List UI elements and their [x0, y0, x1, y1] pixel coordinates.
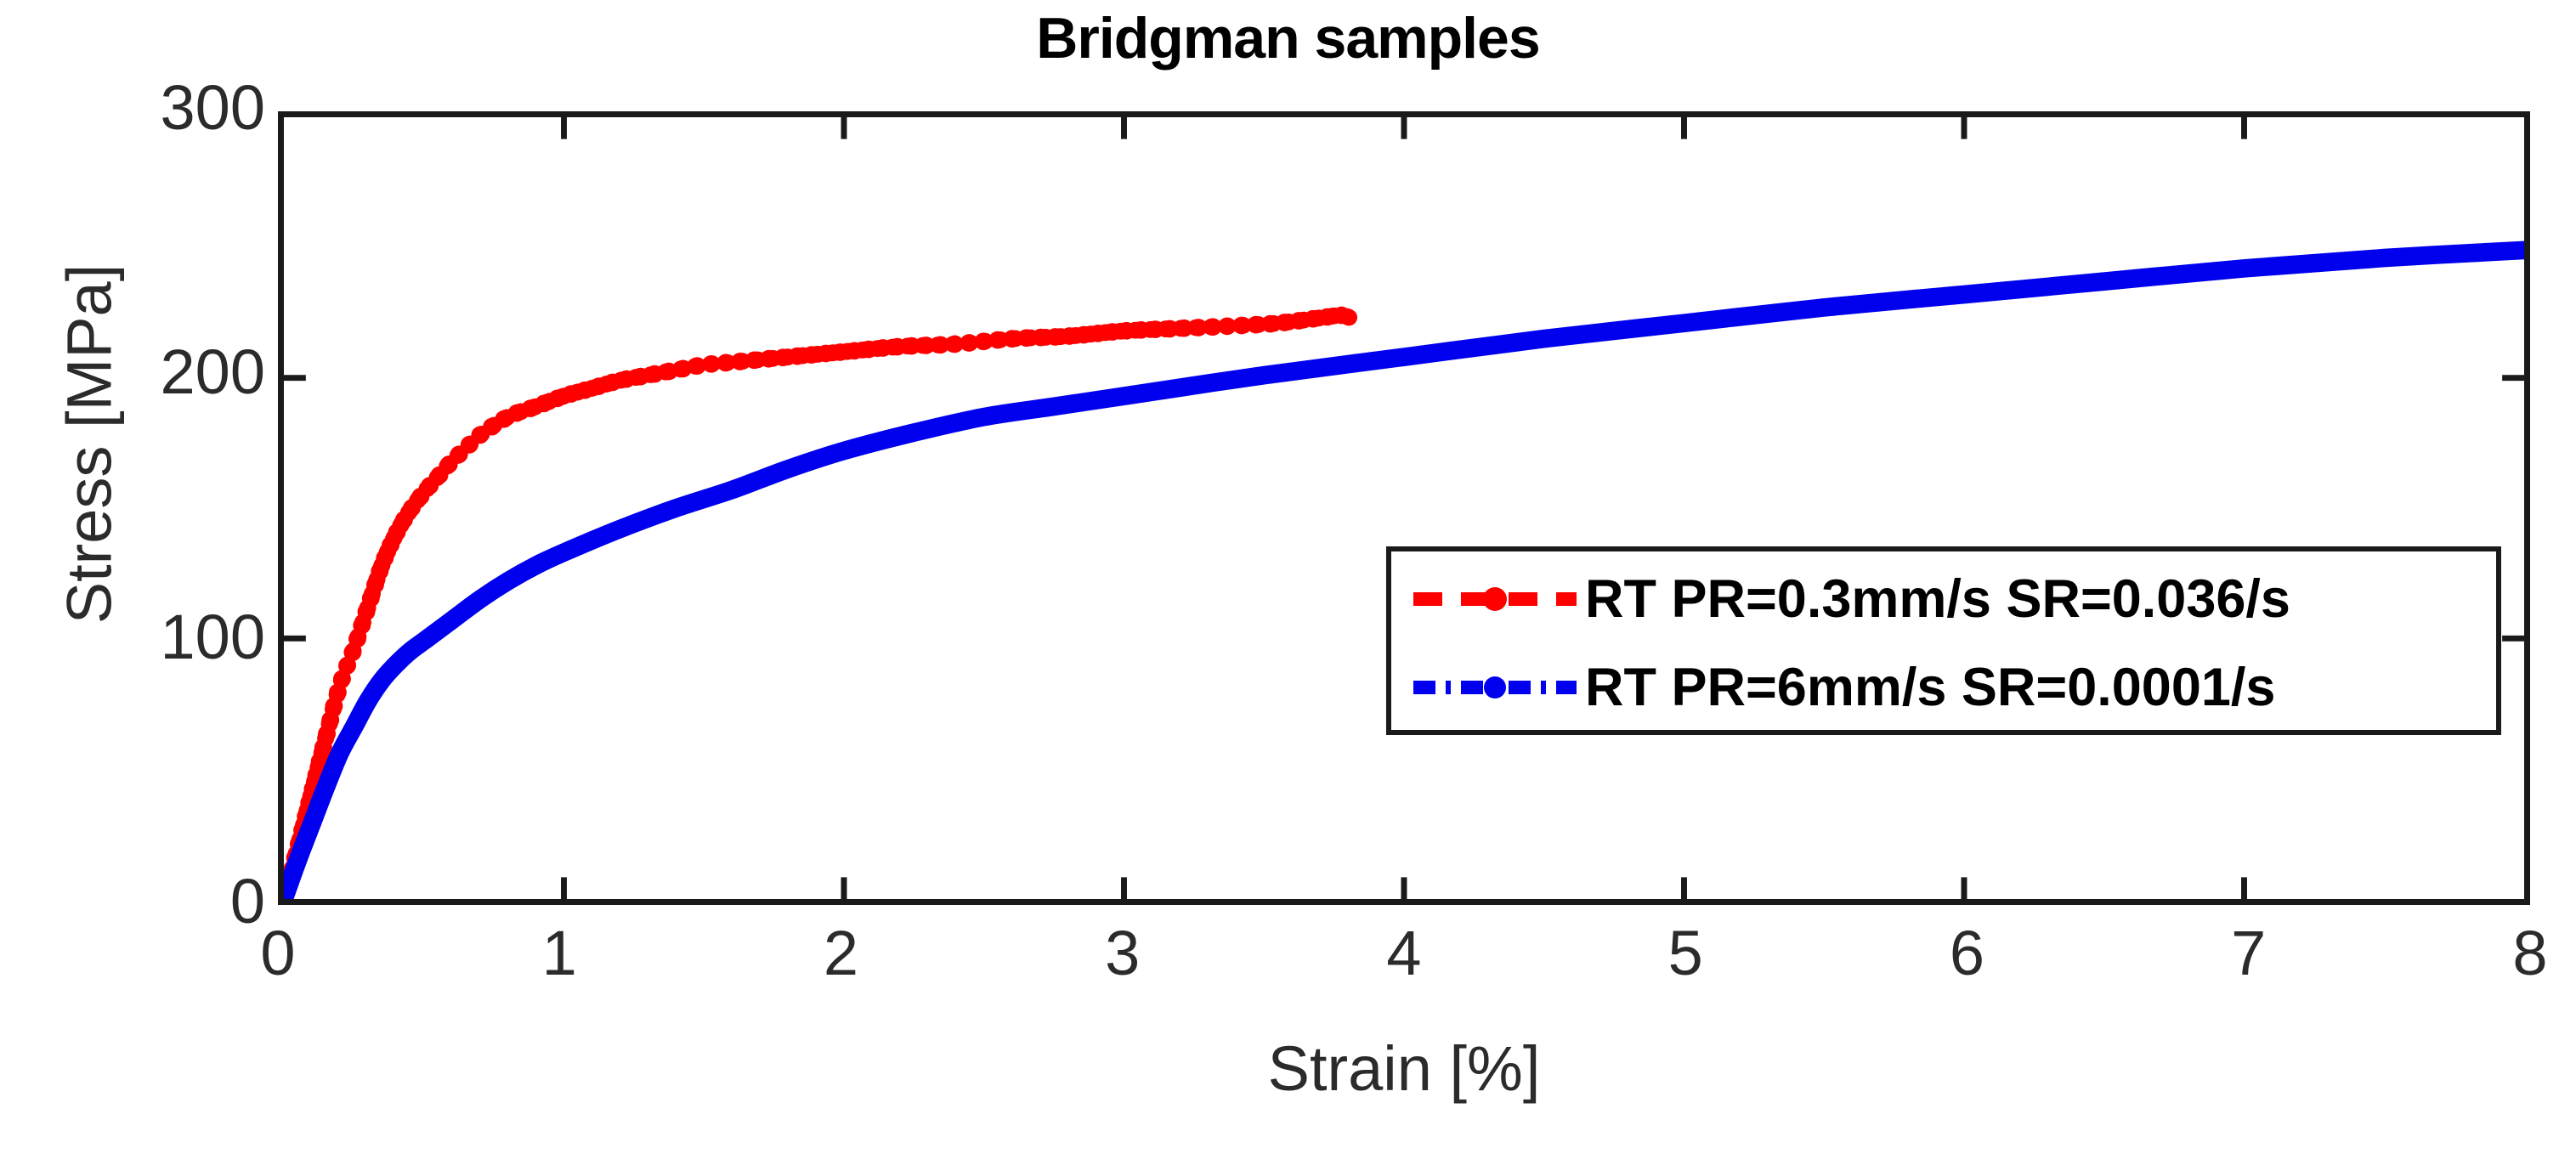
chart-title: Bridgman samples	[0, 5, 2576, 71]
y-tick-label-200: 200	[10, 341, 265, 404]
legend-label-1: RT PR=6mm/s SR=0.0001/s	[1585, 661, 2275, 715]
x-axis-tick-labels: 012345678	[0, 922, 2576, 1015]
x-tick-label-7: 7	[2181, 922, 2317, 985]
x-axis-title: Strain [%]	[278, 1032, 2530, 1105]
x-tick-label-5: 5	[1617, 922, 1753, 985]
legend-entry-1[interactable]: RT PR=6mm/s SR=0.0001/s	[1391, 647, 2496, 728]
series-line-0	[284, 315, 1354, 899]
x-tick-label-8: 8	[2462, 922, 2576, 985]
plot-canvas	[284, 117, 2524, 899]
x-tick-label-2: 2	[773, 922, 909, 985]
plot-area	[278, 111, 2530, 905]
legend-entry-0[interactable]: RT PR=0.3mm/s SR=0.036/s	[1391, 558, 2496, 640]
y-tick-label-100: 100	[10, 606, 265, 669]
x-tick-label-4: 4	[1336, 922, 1472, 985]
y-tick-label-300: 300	[10, 76, 265, 139]
series-marker	[1333, 307, 1350, 325]
x-tick-label-0: 0	[210, 922, 346, 985]
x-tick-label-6: 6	[1899, 922, 2035, 985]
x-tick-label-1: 1	[491, 922, 627, 985]
x-tick-label-3: 3	[1055, 922, 1191, 985]
legend-swatch-blue-dashdot-line	[1410, 662, 1580, 713]
chart-figure: Bridgman samples 0100200300 Stress [MPa]…	[0, 0, 2576, 1165]
legend-label-0: RT PR=0.3mm/s SR=0.036/s	[1585, 573, 2290, 626]
chart-legend: RT PR=0.3mm/s SR=0.036/s RT PR=6mm/s SR=…	[1386, 546, 2501, 735]
y-axis-title: Stress [MPa]	[54, 62, 126, 827]
legend-swatch-red-dashed-line	[1410, 574, 1580, 625]
